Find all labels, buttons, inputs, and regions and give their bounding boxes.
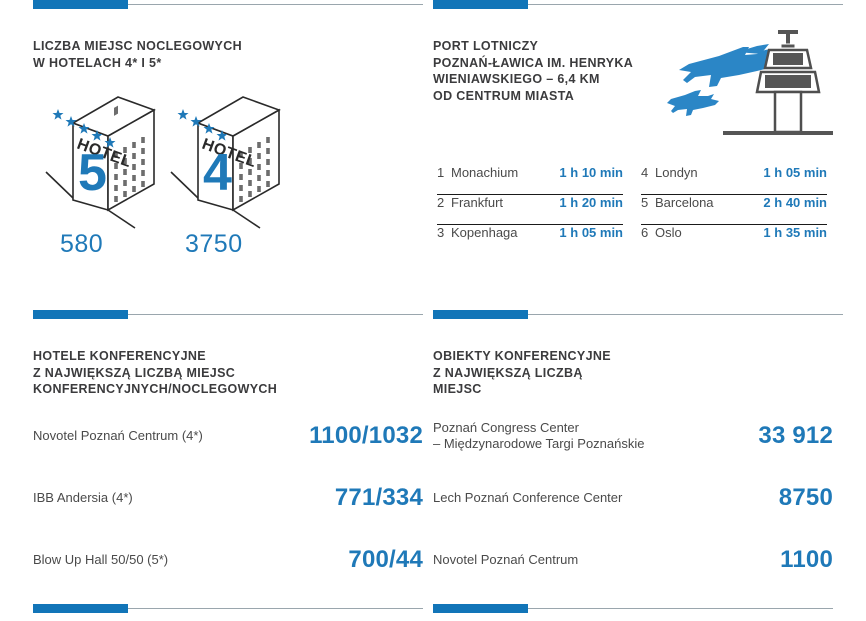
list-item-value: 8750 [779, 484, 833, 512]
divider-accent-segment [33, 0, 128, 9]
divider-airport-top [433, 0, 833, 10]
flight-column-right: 4 Londyn 1 h 05 min 5 Barcelona 2 h 40 m… [641, 165, 827, 254]
flight-column-left: 1 Monachium 1 h 10 min 2 Frankfurt 1 h 2… [437, 165, 623, 254]
divider-conference-hotels-top [33, 310, 423, 320]
flight-city: Oslo [655, 225, 763, 240]
flight-duration: 2 h 40 min [763, 195, 827, 210]
svg-text:5: 5 [78, 144, 107, 202]
hotel-building-4-icon: HOTEL 4 [163, 88, 313, 233]
conference-venues-list: Poznań Congress Center – Międzynarodowe … [433, 405, 833, 591]
flight-duration: 1 h 20 min [559, 195, 623, 210]
divider-accent-segment [33, 310, 128, 319]
conference-venues-heading: OBIEKTY KONFERENCYJNE Z NAJWIĘKSZĄ LICZB… [433, 348, 611, 398]
conference-hotels-heading: HOTELE KONFERENCYJNE Z NAJWIĘKSZĄ LICZBĄ… [33, 348, 277, 398]
list-item-value: 771/334 [335, 484, 423, 512]
hotel-4-star-count: 3750 [185, 230, 243, 259]
list-item-value: 1100/1032 [309, 422, 423, 450]
panel-conference-venues: OBIEKTY KONFERENCYJNE Z NAJWIĘKSZĄ LICZB… [433, 310, 833, 621]
divider-accent-segment [433, 310, 528, 319]
conference-hotels-list: Novotel Poznań Centrum (4*) 1100/1032 IB… [33, 405, 423, 591]
flight-city: Monachium [451, 165, 559, 180]
table-row: 3 Kopenhaga 1 h 05 min [437, 225, 623, 254]
flight-times-table: 1 Monachium 1 h 10 min 2 Frankfurt 1 h 2… [437, 165, 833, 254]
list-item-label: Poznań Congress Center – Międzynarodowe … [433, 420, 657, 452]
infographic-page: LICZBA MIEJSC NOCLEGOWYCH W HOTELACH 4* … [0, 0, 866, 621]
list-item: Novotel Poznań Centrum 1100 [433, 529, 833, 591]
table-row: 5 Barcelona 2 h 40 min [641, 195, 827, 225]
panel-airport: PORT LOTNICZY POZNAŃ-ŁAWICA IM. HENRYKA … [433, 0, 833, 310]
panel-conference-hotels: HOTELE KONFERENCYJNE Z NAJWIĘKSZĄ LICZBĄ… [33, 310, 423, 621]
hotel-5-star-count: 580 [60, 230, 103, 259]
hotel-illustrations: HOTEL 5 580 [33, 88, 423, 278]
flight-index: 5 [641, 195, 655, 210]
list-item: Lech Poznań Conference Center 8750 [433, 467, 833, 529]
flight-city: Barcelona [655, 195, 763, 210]
divider-accent-segment [433, 0, 528, 9]
accommodation-heading: LICZBA MIEJSC NOCLEGOWYCH W HOTELACH 4* … [33, 38, 242, 71]
list-item-label: Blow Up Hall 50/50 (5*) [33, 552, 180, 568]
flight-duration: 1 h 05 min [763, 165, 827, 180]
control-tower-icon [723, 30, 833, 135]
divider-accent-segment-right [433, 604, 528, 613]
flight-duration: 1 h 10 min [559, 165, 623, 180]
divider-accommodation-top [33, 0, 423, 10]
table-row: 1 Monachium 1 h 10 min [437, 165, 623, 195]
flight-index: 6 [641, 225, 655, 240]
flight-index: 2 [437, 195, 451, 210]
flight-duration: 1 h 35 min [763, 225, 827, 240]
flight-index: 3 [437, 225, 451, 240]
list-item: Blow Up Hall 50/50 (5*) 700/44 [33, 529, 423, 591]
panel-accommodation: LICZBA MIEJSC NOCLEGOWYCH W HOTELACH 4* … [33, 0, 423, 310]
list-item-value: 700/44 [348, 546, 423, 574]
list-item: Poznań Congress Center – Międzynarodowe … [433, 405, 833, 467]
svg-text:4: 4 [203, 144, 232, 202]
flight-index: 4 [641, 165, 655, 180]
list-item-value: 33 912 [758, 422, 833, 450]
list-item-label: IBB Andersia (4*) [33, 490, 145, 506]
table-row: 6 Oslo 1 h 35 min [641, 225, 827, 254]
airport-heading: PORT LOTNICZY POZNAŃ-ŁAWICA IM. HENRYKA … [433, 38, 663, 104]
list-item-value: 1100 [780, 546, 833, 574]
page-bottom-dividers [0, 604, 866, 616]
list-item: IBB Andersia (4*) 771/334 [33, 467, 423, 529]
airplane-small-icon [667, 90, 719, 116]
list-item-label: Novotel Poznań Centrum [433, 552, 590, 568]
divider-conference-venues-top [433, 310, 833, 320]
list-item-label: Novotel Poznań Centrum (4*) [33, 428, 215, 444]
list-item: Novotel Poznań Centrum (4*) 1100/1032 [33, 405, 423, 467]
flight-city: Londyn [655, 165, 763, 180]
flight-city: Frankfurt [451, 195, 559, 210]
airport-illustration [661, 28, 833, 143]
table-row: 4 Londyn 1 h 05 min [641, 165, 827, 195]
list-item-label: Lech Poznań Conference Center [433, 490, 634, 506]
flight-duration: 1 h 05 min [559, 225, 623, 240]
flight-city: Kopenhaga [451, 225, 559, 240]
table-row: 2 Frankfurt 1 h 20 min [437, 195, 623, 225]
divider-accent-segment-left [33, 604, 128, 613]
hotel-4-star-unit: HOTEL 4 3750 [163, 88, 313, 238]
flight-index: 1 [437, 165, 451, 180]
